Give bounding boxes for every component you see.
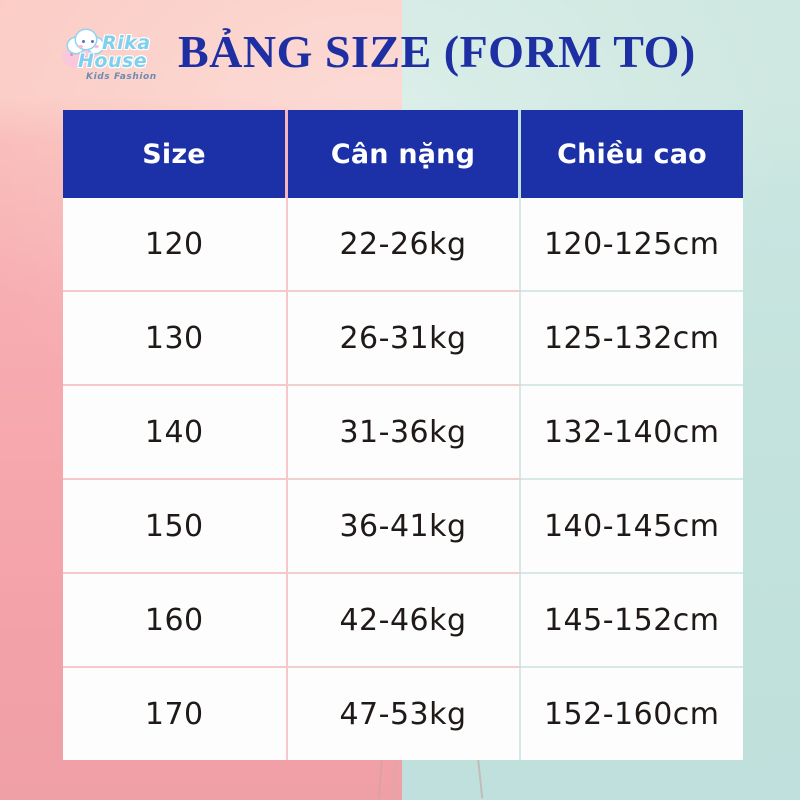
brand-logo: Rika House Kids Fashion bbox=[62, 24, 166, 86]
cell-size: 140 bbox=[63, 385, 287, 479]
table-row: 160 42-46kg 145-152cm bbox=[63, 573, 743, 667]
table-header-row: Size Cân nặng Chiều cao bbox=[63, 110, 743, 198]
column-header-height: Chiều cao bbox=[520, 110, 744, 198]
cell-weight: 26-31kg bbox=[287, 291, 520, 385]
cell-weight: 31-36kg bbox=[287, 385, 520, 479]
logo-tagline: Kids Fashion bbox=[86, 72, 157, 82]
cell-height: 140-145cm bbox=[520, 479, 744, 573]
cell-size: 170 bbox=[63, 667, 287, 760]
cell-size: 120 bbox=[63, 198, 287, 291]
cell-height: 125-132cm bbox=[520, 291, 744, 385]
table-row: 130 26-31kg 125-132cm bbox=[63, 291, 743, 385]
column-header-weight: Cân nặng bbox=[287, 110, 520, 198]
logo-word-house: House bbox=[78, 50, 147, 72]
cell-weight: 47-53kg bbox=[287, 667, 520, 760]
size-chart-poster: Rika House Kids Fashion BẢNG SIZE (FORM … bbox=[0, 0, 800, 800]
cell-size: 130 bbox=[63, 291, 287, 385]
cell-height: 145-152cm bbox=[520, 573, 744, 667]
cell-size: 160 bbox=[63, 573, 287, 667]
cell-height: 152-160cm bbox=[520, 667, 744, 760]
size-table: Size Cân nặng Chiều cao 120 22-26kg 120-… bbox=[63, 110, 743, 760]
cell-weight: 36-41kg bbox=[287, 479, 520, 573]
cell-weight: 22-26kg bbox=[287, 198, 520, 291]
table-row: 170 47-53kg 152-160cm bbox=[63, 667, 743, 760]
cell-size: 150 bbox=[63, 479, 287, 573]
cell-weight: 42-46kg bbox=[287, 573, 520, 667]
table-row: 140 31-36kg 132-140cm bbox=[63, 385, 743, 479]
cell-height: 120-125cm bbox=[520, 198, 744, 291]
table-row: 150 36-41kg 140-145cm bbox=[63, 479, 743, 573]
cell-height: 132-140cm bbox=[520, 385, 744, 479]
column-header-size: Size bbox=[63, 110, 287, 198]
table-row: 120 22-26kg 120-125cm bbox=[63, 198, 743, 291]
page-title: BẢNG SIZE (FORM TO) bbox=[178, 24, 738, 80]
